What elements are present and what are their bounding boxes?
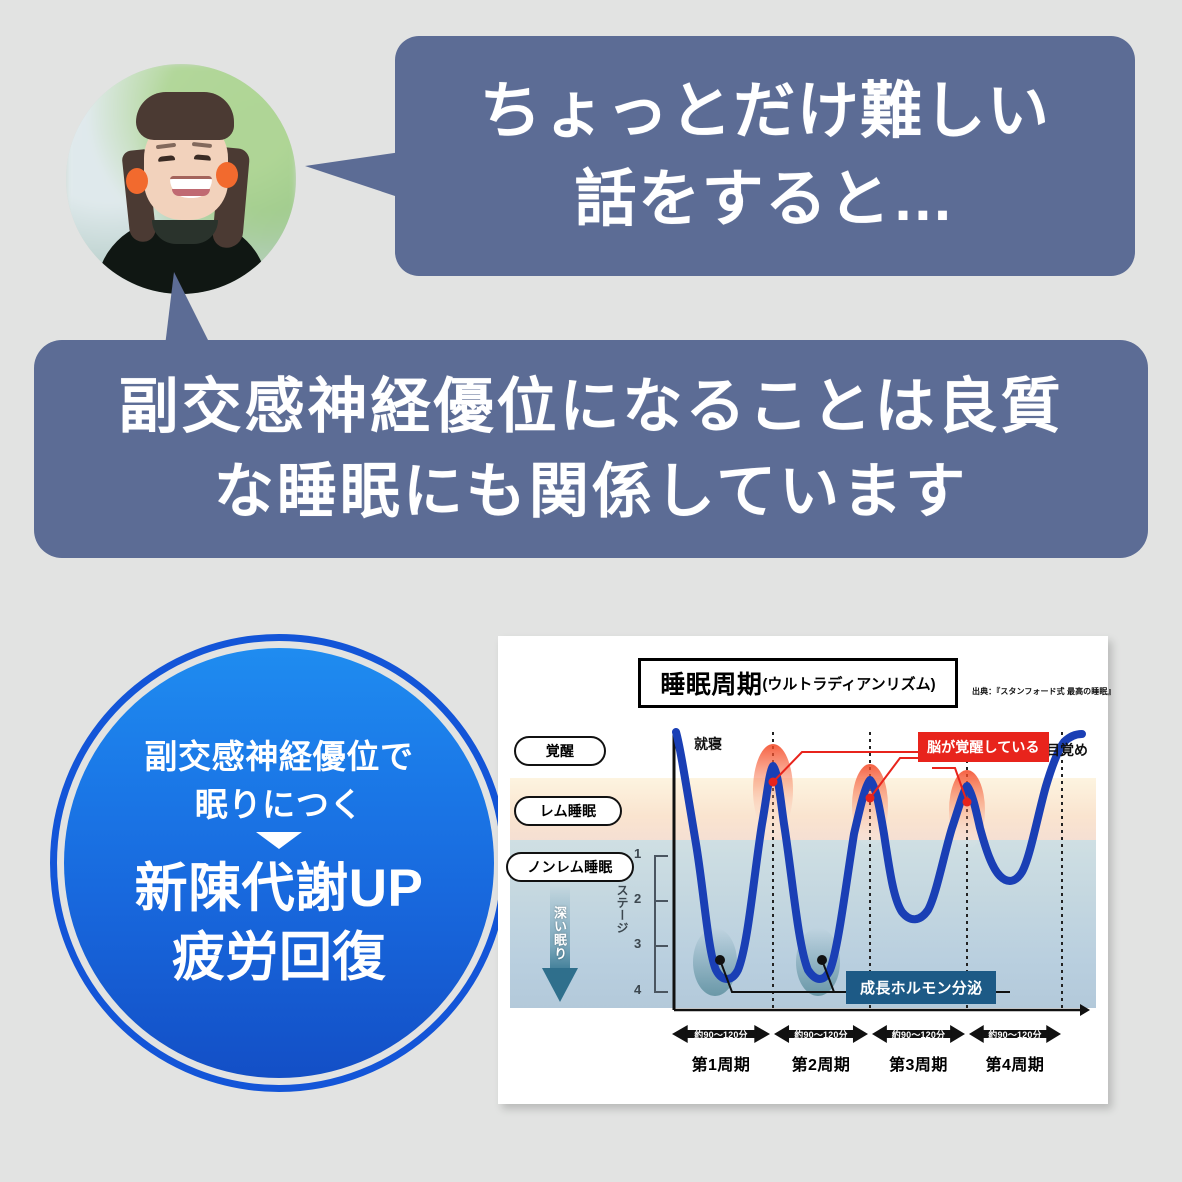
annotation-growth-hormone: 成長ホルモン分泌: [846, 971, 996, 1004]
stage-tick-label-1: 1: [634, 846, 641, 861]
stage-tick-label-4: 4: [634, 982, 641, 997]
x-axis-arrowhead: [1080, 1004, 1090, 1016]
cycle-3: 約90〜120分 第3周期: [872, 1019, 965, 1047]
sleep-cycle-chart-card: 睡眠周期 (ウルトラディアンリズム) 出典：『スタンフォード式 最高の睡眠』 覚…: [498, 636, 1108, 1104]
benefit-circle: 副交感神経優位で 眠りにつく 新陳代謝UP 疲労回復: [50, 634, 508, 1092]
stage-tick-label-3: 3: [634, 936, 641, 951]
cycle-2-duration: 約90〜120分: [774, 1028, 868, 1041]
label-awake: 覚醒: [514, 736, 606, 766]
stage-tick-4: [654, 991, 668, 993]
stage-axis-line: [654, 855, 656, 993]
speech-bubble-2-line-1: 副交感神経優位になることは良質: [119, 364, 1064, 449]
label-rem-sleep: レム睡眠: [514, 796, 622, 826]
chart-title-row: 睡眠周期 (ウルトラディアンリズム) 出典：『スタンフォード式 最高の睡眠』: [638, 658, 1098, 710]
cycle-2-label: 第2周期: [774, 1051, 868, 1075]
speech-bubble-1-line-2: 話をすると…: [575, 156, 956, 244]
cycle-3-label: 第3周期: [872, 1051, 965, 1075]
rem-leader-1: [773, 752, 924, 782]
label-non-rem-sleep: ノンレム睡眠: [506, 852, 634, 882]
avatar-earring-right: [216, 162, 238, 188]
chart-title-main: 睡眠周期: [660, 665, 762, 701]
sleep-depth-curve: [676, 732, 1082, 979]
stage-tick-label-2: 2: [634, 891, 641, 906]
speech-bubble-1-line-1: ちょっとだけ難しい: [480, 68, 1051, 156]
annotation-wakeup: 目覚め: [1046, 740, 1088, 760]
speech-bubble-1-tail: [305, 152, 401, 198]
speech-bubble-2-tail: [165, 272, 211, 346]
chart-title-sub: (ウルトラディアンリズム): [762, 673, 935, 694]
speech-bubble-2-line-2: な睡眠にも関係しています: [214, 449, 968, 534]
cycle-1: 約90〜120分 第1周期: [672, 1019, 770, 1047]
deep-sleep-arrow-icon: 深い眠り: [542, 884, 578, 1004]
stage-axis-label: ステージ: [614, 884, 631, 934]
cycle-1-label: 第1周期: [672, 1051, 770, 1075]
benefit-circle-bottom-line-1: 新陳代謝UP: [135, 855, 424, 924]
cycle-row: 約90〜120分 第1周期 約90〜120分 第2周期 約90〜120分 第3周…: [670, 1019, 1090, 1081]
speech-bubble-1: ちょっとだけ難しい 話をすると…: [395, 36, 1135, 276]
cycle-3-duration: 約90〜120分: [872, 1028, 965, 1041]
avatar: [66, 64, 296, 294]
down-arrow-icon: [256, 832, 302, 849]
chart-source: 出典：『スタンフォード式 最高の睡眠』: [972, 686, 1116, 697]
cycle-1-duration: 約90〜120分: [672, 1028, 770, 1041]
benefit-circle-bottom-line-2: 疲労回復: [172, 924, 386, 993]
deep-sleep-arrow-label: 深い眠り: [553, 906, 569, 961]
cycle-2: 約90〜120分 第2周期: [774, 1019, 868, 1047]
deep-sleep-arrow-head: [542, 968, 578, 1002]
stage-tick-2: [654, 900, 668, 902]
stage-tick-1: [654, 855, 668, 857]
cycle-4: 約90〜120分 第4周期: [969, 1019, 1061, 1047]
benefit-circle-body: 副交感神経優位で 眠りにつく 新陳代謝UP 疲労回復: [64, 648, 494, 1078]
speech-bubble-2: 副交感神経優位になることは良質 な睡眠にも関係しています: [34, 340, 1148, 558]
annotation-brain-awake: 脳が覚醒している: [918, 732, 1049, 762]
annotation-bedtime: 就寝: [694, 734, 722, 754]
avatar-earring-left: [126, 168, 148, 194]
cycle-4-duration: 約90〜120分: [969, 1028, 1061, 1041]
cycle-4-label: 第4周期: [969, 1051, 1061, 1075]
benefit-circle-top-line-2: 眠りにつく: [195, 781, 363, 829]
stage-tick-3: [654, 945, 668, 947]
poster-canvas: ちょっとだけ難しい 話をすると… 副交感神経優位になることは良質 な睡眠にも関係…: [0, 0, 1182, 1182]
avatar-bangs: [136, 92, 234, 140]
stage-axis: 1 2 3 4 ステージ: [624, 848, 670, 998]
chart-title-box: 睡眠周期 (ウルトラディアンリズム): [638, 658, 958, 708]
avatar-mouth: [170, 176, 212, 198]
benefit-circle-top-line-1: 副交感神経優位で: [144, 733, 413, 781]
